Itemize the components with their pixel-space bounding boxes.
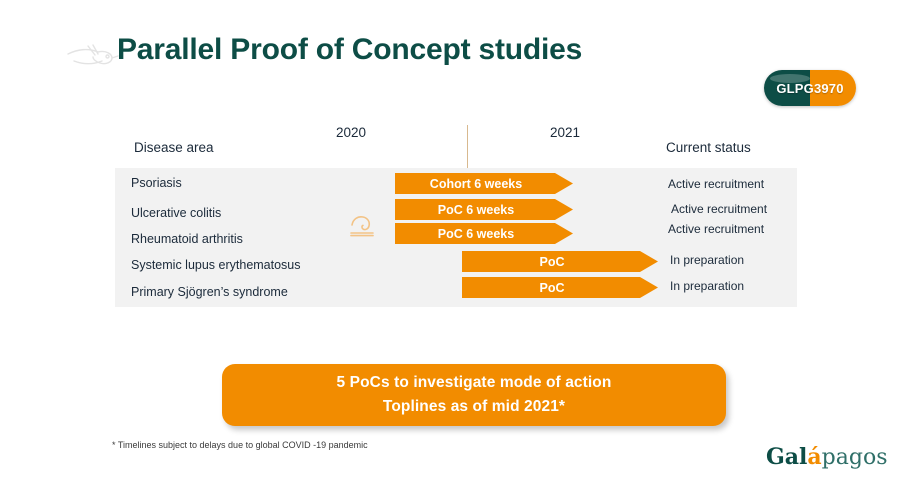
galapagos-logo: Galápagos — [766, 444, 888, 470]
year-label-2020: 2020 — [336, 125, 366, 140]
timeline-bar-label: Cohort 6 weeks — [395, 173, 573, 194]
row-label-rheumatoid-arthritis: Rheumatoid arthritis — [131, 232, 243, 246]
timeline-bar-psoriasis: Cohort 6 weeks — [395, 173, 573, 194]
logo-accent-char: á — [807, 444, 821, 470]
timeline-bar-label: PoC 6 weeks — [395, 223, 573, 244]
compound-badge: GLPG3970 — [764, 70, 856, 106]
row-status-primary-sjogrens-syndrome: In preparation — [670, 279, 744, 293]
timeline-bar-label: PoC 6 weeks — [395, 199, 573, 220]
row-label-systemic-lupus-erythematosus: Systemic lupus erythematosus — [131, 258, 301, 272]
row-status-rheumatoid-arthritis: Active recruitment — [668, 222, 764, 236]
year-divider-line — [467, 125, 468, 168]
timeline-bar-label: PoC — [462, 251, 658, 272]
swallow-icon — [62, 36, 120, 78]
callout-line-1: 5 PoCs to investigate mode of action — [337, 374, 612, 392]
row-label-ulcerative-colitis: Ulcerative colitis — [131, 206, 221, 220]
row-status-psoriasis: Active recruitment — [668, 177, 764, 191]
year-label-2021: 2021 — [550, 125, 580, 140]
timeline-bar-ulcerative-colitis: PoC 6 weeks — [395, 199, 573, 220]
timeline-bar-primary-sjogrens-syndrome: PoC — [462, 277, 658, 298]
timeline-bar-rheumatoid-arthritis: PoC 6 weeks — [395, 223, 573, 244]
slide-root: Parallel Proof of Concept studies GLPG39… — [0, 0, 922, 490]
row-label-psoriasis: Psoriasis — [131, 176, 182, 190]
logo-part-1: Gal — [766, 444, 807, 470]
footnote: * Timelines subject to delays due to glo… — [112, 440, 368, 450]
timeline-bar-label: PoC — [462, 277, 658, 298]
summary-callout: 5 PoCs to investigate mode of action Top… — [222, 364, 726, 426]
compound-badge-label: GLPG3970 — [764, 70, 856, 106]
wave-icon — [349, 213, 375, 239]
callout-line-2: Toplines as of mid 2021* — [383, 398, 565, 416]
column-header-status: Current status — [666, 140, 751, 155]
row-status-ulcerative-colitis: Active recruitment — [671, 202, 767, 216]
page-title: Parallel Proof of Concept studies — [117, 33, 582, 67]
logo-part-2: pagos — [822, 445, 888, 470]
column-header-disease: Disease area — [134, 140, 214, 155]
timeline-bar-systemic-lupus-erythematosus: PoC — [462, 251, 658, 272]
row-status-systemic-lupus-erythematosus: In preparation — [670, 253, 744, 267]
row-label-primary-sjogrens-syndrome: Primary Sjögren’s syndrome — [131, 285, 288, 299]
